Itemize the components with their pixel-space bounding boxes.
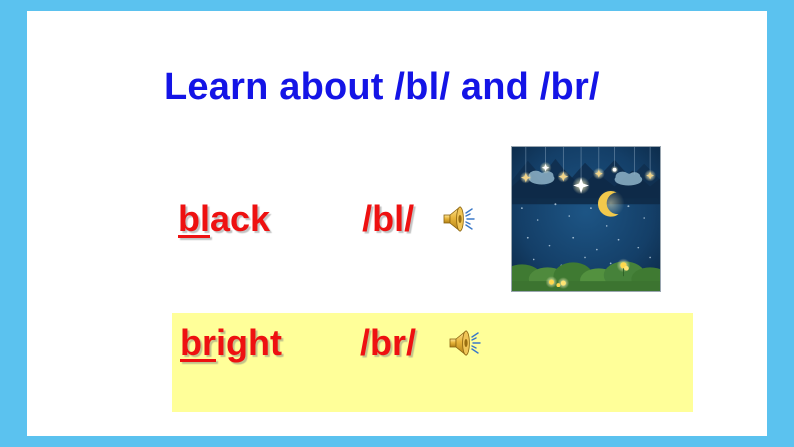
phoneme-bl: /bl/ xyxy=(362,198,414,240)
speaker-icon[interactable] xyxy=(448,328,484,358)
phoneme-br: /br/ xyxy=(360,322,416,364)
night-sky-image xyxy=(511,146,661,292)
slide-border-left xyxy=(0,0,27,447)
slide-canvas: Learn about /bl/ and /br/ black /bl/ xyxy=(0,0,794,447)
word-black-rest: ack xyxy=(210,198,270,239)
slide-border-right xyxy=(767,0,794,447)
word-bright-onset: br xyxy=(180,322,216,363)
slide-border-bottom xyxy=(0,436,794,447)
page-title: Learn about /bl/ and /br/ xyxy=(164,66,600,109)
word-row-bright: bright /br/ xyxy=(180,322,484,364)
word-black: black xyxy=(178,198,270,240)
speaker-icon[interactable] xyxy=(442,204,478,234)
word-black-onset: bl xyxy=(178,198,210,239)
word-bright: bright xyxy=(180,322,282,364)
word-row-black: black /bl/ xyxy=(178,198,478,240)
slide-border-top xyxy=(0,0,794,11)
word-bright-rest: ight xyxy=(216,322,282,363)
